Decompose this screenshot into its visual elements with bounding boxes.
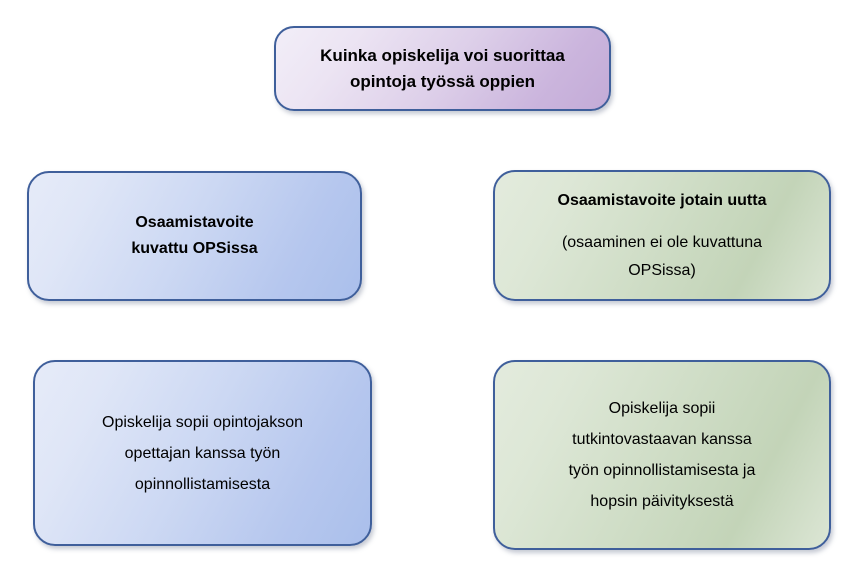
node-agree-teacher-line-1: Opiskelija sopii opintojakson xyxy=(102,407,303,438)
diagram-canvas: Kuinka opiskelija voi suorittaa opintoja… xyxy=(0,0,858,572)
node-goal-new-sub-line-2: OPSissa) xyxy=(628,257,696,285)
node-agree-supervisor-line-1: Opiskelija sopii xyxy=(609,393,716,424)
node-goal-ops-line-1: Osaamistavoite xyxy=(135,210,253,236)
node-goal-new-line-1: Osaamistavoite jotain uutta xyxy=(558,187,767,215)
node-goal-ops-line-2: kuvattu OPSissa xyxy=(131,236,257,262)
node-learning-goal-in-curriculum: Osaamistavoite kuvattu OPSissa xyxy=(27,171,362,301)
node-agree-teacher-line-3: opinnollistamisesta xyxy=(135,469,270,500)
node-learning-goal-something-new: Osaamistavoite jotain uutta (osaaminen e… xyxy=(493,170,831,301)
node-title-question: Kuinka opiskelija voi suorittaa opintoja… xyxy=(274,26,611,111)
node-title-line-1: Kuinka opiskelija voi suorittaa xyxy=(320,43,565,69)
node-agree-supervisor-line-4: hopsin päivityksestä xyxy=(590,486,733,517)
node-title-line-2: opintoja työssä oppien xyxy=(350,69,535,95)
node-agree-with-teacher: Opiskelija sopii opintojakson opettajan … xyxy=(33,360,372,546)
node-agree-teacher-line-2: opettajan kanssa työn xyxy=(125,438,281,469)
node-agree-with-degree-supervisor: Opiskelija sopii tutkintovastaavan kanss… xyxy=(493,360,831,550)
node-agree-supervisor-line-3: työn opinnollistamisesta ja xyxy=(569,455,756,486)
node-goal-new-sub-line-1: (osaaminen ei ole kuvattuna xyxy=(562,229,762,257)
node-agree-supervisor-line-2: tutkintovastaavan kanssa xyxy=(572,424,752,455)
